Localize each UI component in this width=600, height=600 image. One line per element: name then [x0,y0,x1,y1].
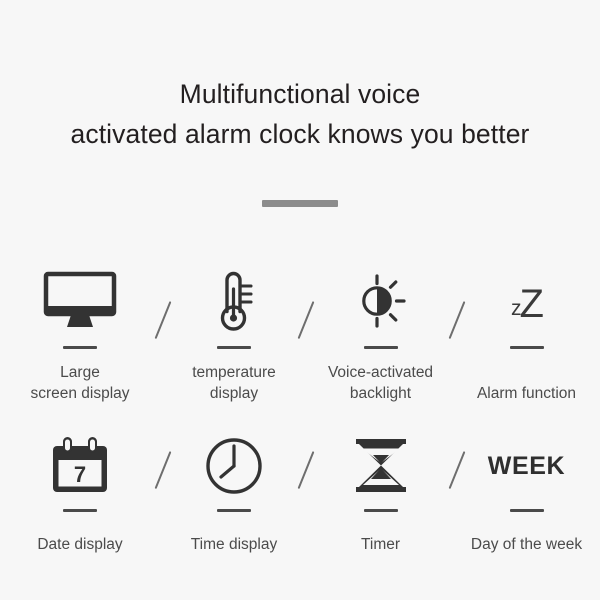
feature-caption: Alarm function [453,383,600,404]
feature-row-2: 7 Date display Time display [0,425,600,555]
clock-icon [160,425,308,507]
thermometer-icon [160,258,308,344]
icon-underline [510,509,544,512]
product-feature-banner: Multifunctional voice activated alarm cl… [0,0,600,600]
feature-caption: Time display [160,534,308,555]
week-label: WEEK [488,451,565,481]
brightness-icon [308,258,453,344]
feature-item-alarm-function: z Z Alarm function [453,258,600,404]
icon-underline [63,509,97,512]
feature-caption: Day of the week [453,534,600,555]
hourglass-icon [308,425,453,507]
feature-item-timer: Timer [308,425,453,555]
zz-large-glyph: Z [520,284,544,324]
feature-caption: Timer [308,534,453,555]
feature-caption: Date display [0,534,160,555]
icon-underline [364,509,398,512]
icon-underline [217,509,251,512]
icon-underline [63,346,97,349]
feature-caption: Voice-activated backlight [308,362,453,404]
icon-underline [510,346,544,349]
feature-item-temperature-display: temperature display [160,258,308,404]
feature-item-voice-activated-backlight: Voice-activated backlight [308,258,453,404]
divider-container [0,200,600,207]
feature-item-large-screen-display: Large screen display [0,258,160,404]
feature-caption: Large screen display [0,362,160,404]
feature-item-day-of-week: WEEK Day of the week [453,425,600,555]
icon-underline [364,346,398,349]
icon-underline [217,346,251,349]
week-text-icon: WEEK [453,425,600,507]
sleep-zz-icon: z Z [453,258,600,344]
feature-item-date-display: 7 Date display [0,425,160,555]
feature-caption: temperature display [160,362,308,404]
page-title: Multifunctional voice activated alarm cl… [0,74,600,154]
monitor-icon [0,258,160,344]
calendar-icon: 7 [0,425,160,507]
section-divider [262,200,338,207]
calendar-day-number: 7 [74,462,86,487]
feature-item-time-display: Time display [160,425,308,555]
